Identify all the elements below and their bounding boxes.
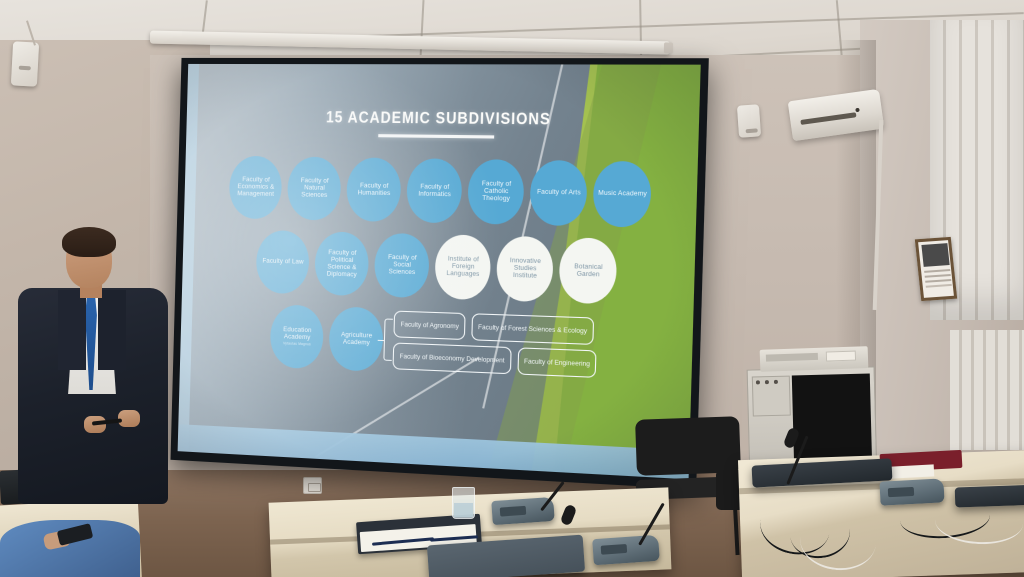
- wall-speaker-right: [737, 104, 761, 137]
- subdivision-bubble: Faculty of Economics & Management: [229, 155, 283, 219]
- subdivision-row-2: Faculty of Law Faculty of Political Scie…: [211, 229, 668, 306]
- conference-microphone-base[interactable]: [592, 535, 660, 566]
- bubble-label: Botanical Garden: [560, 262, 617, 279]
- hair: [62, 227, 116, 257]
- subdivision-row-1: Faculty of Economics & Management Facult…: [213, 155, 671, 228]
- bubble-label: Institute of Foreign Languages: [435, 255, 491, 279]
- bubble-label: Agriculture Academy: [330, 330, 384, 347]
- bubble-sublabel: Vytautas Magnus: [275, 342, 320, 348]
- subdivision-bubble: Botanical Garden: [559, 237, 618, 304]
- subdivision-bubble: Agriculture Academy: [329, 306, 384, 372]
- presentation-slide: 15 ACADEMIC SUBDIVISIONS Faculty of Econ…: [178, 64, 701, 479]
- bubble-label: Faculty of Social Sciences: [375, 254, 430, 277]
- box-row-bottom: Faculty of Bioeconomy Development Facult…: [393, 343, 597, 378]
- subdivision-bubble: Faculty of Informatics: [406, 158, 463, 223]
- subdivision-bubble: Faculty of Arts: [530, 160, 588, 226]
- water-glass: [452, 487, 475, 519]
- subdivision-bubble: Faculty of Catholic Theology: [468, 159, 526, 225]
- bubble-label: Faculty of Informatics: [407, 183, 462, 199]
- wall-speaker-left: [11, 41, 39, 86]
- bubble-label: Music Academy: [594, 190, 652, 199]
- title-underline: [379, 134, 495, 138]
- agriculture-sub-boxes: Faculty of Agronomy Faculty of Forest Sc…: [393, 311, 598, 378]
- bubble-label: Faculty of Catholic Theology: [468, 180, 524, 203]
- slide-title: 15 ACADEMIC SUBDIVISIONS: [215, 107, 672, 129]
- radiator: [950, 330, 1024, 450]
- subdivision-box: Faculty of Bioeconomy Development: [393, 343, 511, 375]
- office-chair-back: [635, 416, 741, 476]
- bubble-label: Faculty of Political Science & Diplomacy: [315, 248, 369, 278]
- projector-screen: 15 ACADEMIC SUBDIVISIONS Faculty of Econ…: [170, 58, 708, 489]
- subdivision-box: Faculty of Forest Sciences & Ecology: [471, 313, 594, 345]
- jacket-lapel-right: [98, 290, 126, 370]
- bubble-label: Faculty of Humanities: [347, 182, 401, 197]
- subdivision-bubble: Faculty of Law: [256, 230, 310, 294]
- bubble-label-group: Education Academy Vytautas Magnus: [271, 325, 324, 347]
- bubble-label: Faculty of Economics & Management: [230, 176, 283, 198]
- connector-stem: [378, 340, 385, 341]
- printer: [760, 346, 869, 372]
- subdivision-bubble: Faculty of Natural Sciences: [287, 156, 342, 220]
- bubble-label: Faculty of Law: [258, 258, 307, 267]
- bubble-label: Faculty of Natural Sciences: [288, 177, 342, 200]
- subdivision-bubble: Faculty of Political Science & Diplomacy: [315, 231, 370, 296]
- wall-outlet: [303, 477, 322, 494]
- presenter: [14, 232, 179, 532]
- subdivision-row-3: Education Academy Vytautas Magnus Agricu…: [209, 302, 666, 384]
- subdivision-box: Faculty of Agronomy: [394, 311, 466, 340]
- subdivision-box: Faculty of Engineering: [517, 348, 597, 379]
- bubble-label: Innovative Studies Institute: [497, 257, 554, 281]
- subdivision-bubble: Education Academy Vytautas Magnus: [270, 304, 325, 369]
- framed-certificate: [915, 237, 957, 301]
- subdivision-bubble: Innovative Studies Institute: [496, 235, 554, 302]
- jacket-lapel-left: [58, 290, 86, 370]
- subdivision-bubble: Music Academy: [593, 161, 652, 228]
- subdivision-bubble: Faculty of Humanities: [346, 157, 402, 222]
- screenshot-root: 15 ACADEMIC SUBDIVISIONS Faculty of Econ…: [0, 0, 1024, 577]
- box-row-top: Faculty of Agronomy Faculty of Forest Sc…: [394, 311, 598, 346]
- bubble-label: Education Academy: [275, 326, 320, 342]
- subdivision-bubble: Institute of Foreign Languages: [435, 234, 492, 300]
- subdivision-bubble: Faculty of Social Sciences: [374, 233, 430, 298]
- bubble-label: Faculty of Arts: [533, 189, 586, 197]
